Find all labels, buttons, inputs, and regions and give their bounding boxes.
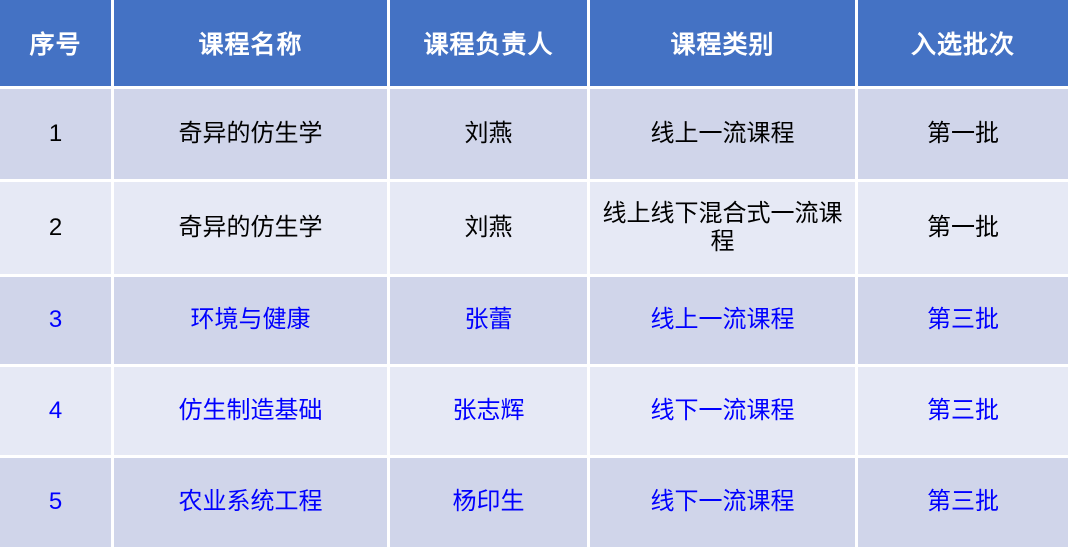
cell-owner: 张志辉	[390, 367, 590, 458]
column-header-type: 课程类别	[590, 0, 858, 89]
cell-name: 环境与健康	[114, 277, 390, 367]
cell-name: 农业系统工程	[114, 458, 390, 550]
course-list-table: 序号 课程名称 课程负责人 课程类别 入选批次 1 奇异的仿生学 刘燕 线上一流…	[0, 0, 1068, 550]
table-row: 4 仿生制造基础 张志辉 线下一流课程 第三批	[0, 367, 1068, 458]
table-row: 5 农业系统工程 杨印生 线下一流课程 第三批	[0, 458, 1068, 550]
cell-name: 奇异的仿生学	[114, 182, 390, 277]
cell-owner: 刘燕	[390, 182, 590, 277]
cell-seq: 4	[0, 367, 114, 458]
cell-seq: 3	[0, 277, 114, 367]
cell-type: 线上线下混合式一流课程	[590, 182, 858, 277]
cell-batch: 第三批	[858, 277, 1068, 367]
table-row: 2 奇异的仿生学 刘燕 线上线下混合式一流课程 第一批	[0, 182, 1068, 277]
column-header-batch: 入选批次	[858, 0, 1068, 89]
column-header-owner: 课程负责人	[390, 0, 590, 89]
cell-batch: 第三批	[858, 367, 1068, 458]
cell-type: 线上一流课程	[590, 89, 858, 182]
cell-type: 线下一流课程	[590, 367, 858, 458]
cell-seq: 5	[0, 458, 114, 550]
cell-batch: 第一批	[858, 182, 1068, 277]
cell-seq: 2	[0, 182, 114, 277]
cell-seq: 1	[0, 89, 114, 182]
cell-name: 仿生制造基础	[114, 367, 390, 458]
cell-type: 线上一流课程	[590, 277, 858, 367]
cell-batch: 第三批	[858, 458, 1068, 550]
cell-owner: 张蕾	[390, 277, 590, 367]
cell-owner: 刘燕	[390, 89, 590, 182]
cell-owner: 杨印生	[390, 458, 590, 550]
cell-name: 奇异的仿生学	[114, 89, 390, 182]
cell-type: 线下一流课程	[590, 458, 858, 550]
table-header-row: 序号 课程名称 课程负责人 课程类别 入选批次	[0, 0, 1068, 89]
column-header-seq: 序号	[0, 0, 114, 89]
table-row: 3 环境与健康 张蕾 线上一流课程 第三批	[0, 277, 1068, 367]
cell-batch: 第一批	[858, 89, 1068, 182]
table-header: 序号 课程名称 课程负责人 课程类别 入选批次	[0, 0, 1068, 89]
column-header-name: 课程名称	[114, 0, 390, 89]
table-body: 1 奇异的仿生学 刘燕 线上一流课程 第一批 2 奇异的仿生学 刘燕 线上线下混…	[0, 89, 1068, 550]
table-row: 1 奇异的仿生学 刘燕 线上一流课程 第一批	[0, 89, 1068, 182]
